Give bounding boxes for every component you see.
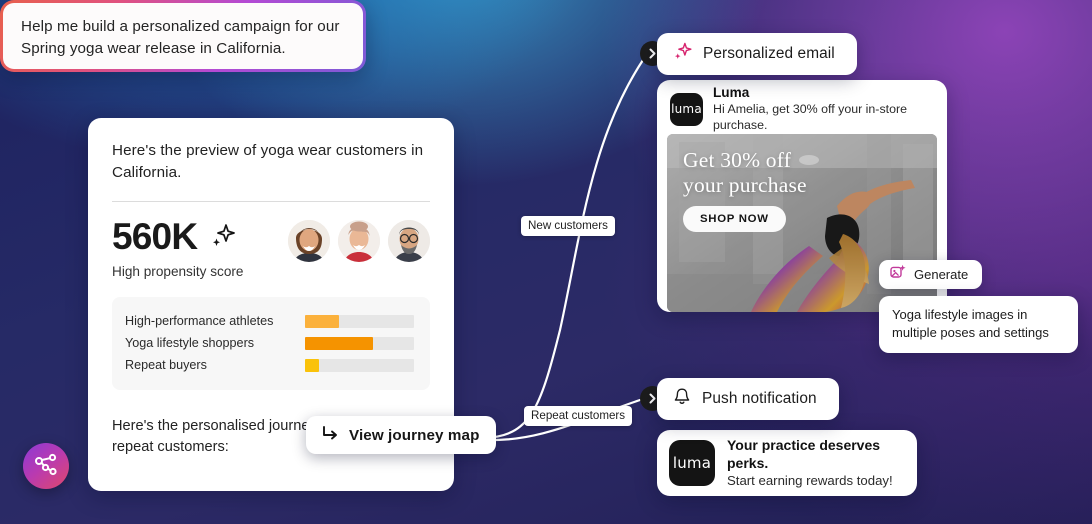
luma-logo-text: luma [673, 454, 711, 472]
shop-now-button[interactable]: SHOP NOW [683, 206, 786, 232]
segment-row: High-performance athletes [125, 310, 414, 332]
email-hero-headline: Get 30% off your purchase [683, 148, 807, 198]
generate-button[interactable]: Generate [879, 260, 982, 289]
push-title: Your practice deserves perks. [727, 436, 905, 472]
view-journey-map-button[interactable]: View journey map [306, 416, 496, 454]
email-hero-line1: Get 30% off [683, 148, 807, 173]
segment-fill [305, 359, 319, 372]
email-subject: Hi Amelia, get 30% off your in-store pur… [713, 101, 937, 133]
app-logo-button[interactable] [23, 443, 69, 489]
segment-fill [305, 337, 373, 350]
segment-label: High-performance athletes [125, 314, 305, 328]
chip-personalized-email[interactable]: Personalized email [657, 33, 857, 75]
luma-logo: luma [670, 93, 703, 126]
segment-track [305, 315, 414, 328]
segment-track [305, 337, 414, 350]
stat-row: 560K High propensity score [112, 218, 430, 279]
email-brand-name: Luma [713, 85, 937, 101]
edge-new-customers [484, 60, 643, 438]
journey-nodes-icon [32, 450, 60, 483]
luma-logo-text: luma [671, 102, 702, 116]
luma-logo: luma [669, 440, 715, 486]
chip-push-notification-label: Push notification [702, 390, 817, 408]
divider [112, 201, 430, 202]
shop-now-label: SHOP NOW [700, 213, 769, 225]
edge-label-repeat-customers: Repeat customers [524, 406, 632, 426]
image-sparkle-icon [890, 264, 906, 285]
sparkle-icon [209, 222, 235, 253]
segment-fill [305, 315, 339, 328]
avatar [338, 220, 380, 262]
canvas: Help me build a personalized campaign fo… [0, 0, 1092, 524]
stat-caption: High propensity score [112, 264, 243, 279]
bell-icon [673, 387, 691, 411]
generate-label: Generate [914, 267, 968, 282]
avatar [288, 220, 330, 262]
generate-tooltip: Yoga lifestyle images in multiple poses … [879, 296, 1078, 353]
segment-row: Yoga lifestyle shoppers [125, 332, 414, 354]
arrow-turn-down-right-icon [321, 425, 340, 446]
avatar-group [288, 218, 430, 262]
user-prompt-bubble: Help me build a personalized campaign fo… [0, 0, 366, 72]
edge-label-new-customers: New customers [521, 216, 615, 236]
stat-value: 560K [112, 218, 197, 256]
segment-row: Repeat buyers [125, 354, 414, 376]
push-body: Start earning rewards today! [727, 472, 905, 490]
email-hero-line2: your purchase [683, 173, 807, 198]
email-header: luma Luma Hi Amelia, get 30% off your in… [667, 90, 937, 128]
push-notification-card: luma Your practice deserves perks. Start… [657, 430, 917, 496]
user-prompt-text: Help me build a personalized campaign fo… [21, 16, 347, 60]
segment-chart: High-performance athletes Yoga lifestyle… [112, 297, 430, 390]
preview-title: Here's the preview of yoga wear customer… [112, 140, 430, 184]
sparkle-icon [673, 42, 692, 66]
chip-personalized-email-label: Personalized email [703, 45, 835, 63]
segment-track [305, 359, 414, 372]
chip-push-notification[interactable]: Push notification [657, 378, 839, 420]
stat-block: 560K High propensity score [112, 218, 243, 279]
view-journey-map-label: View journey map [349, 427, 479, 444]
segment-label: Repeat buyers [125, 358, 305, 372]
segment-label: Yoga lifestyle shoppers [125, 336, 305, 350]
avatar [388, 220, 430, 262]
